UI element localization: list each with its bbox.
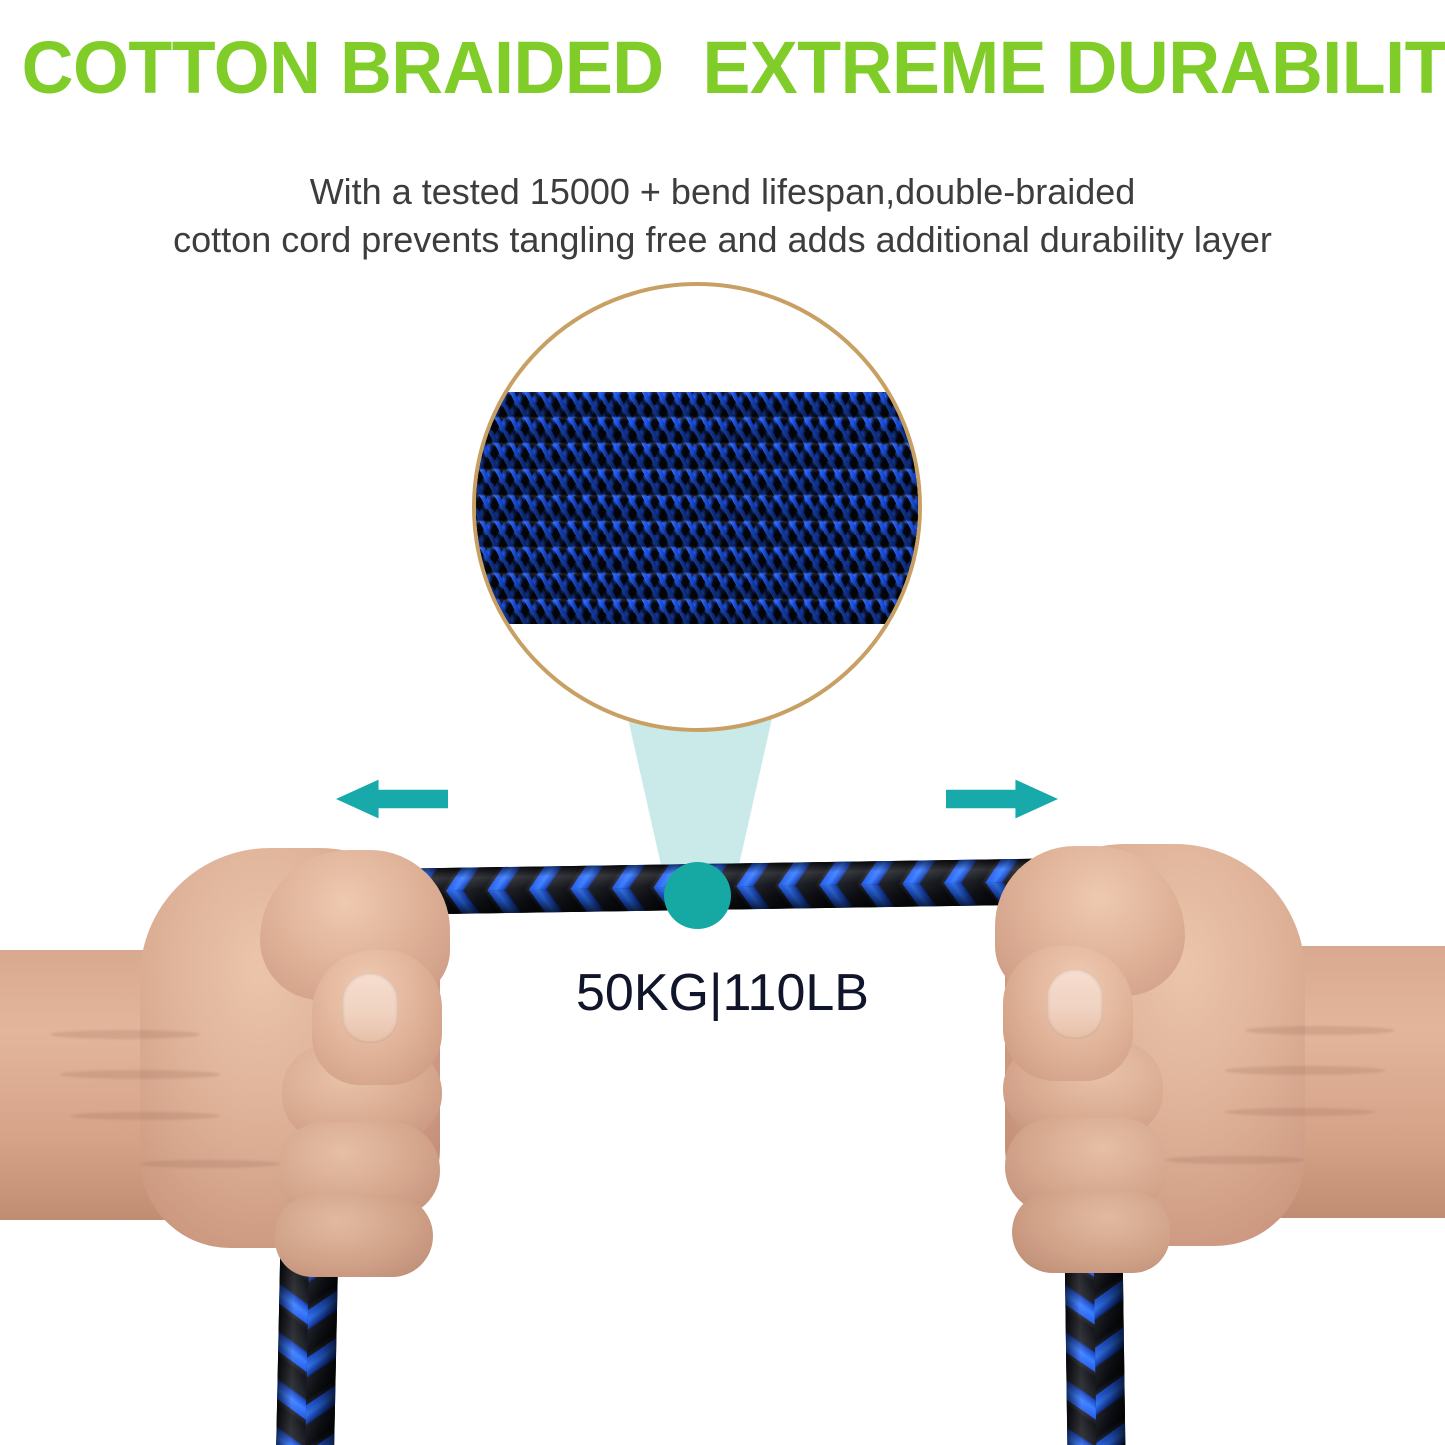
thumbnail — [342, 973, 398, 1043]
skin-crease — [140, 1160, 280, 1168]
subtitle-block: With a tested 15000 + bend lifespan,doub… — [0, 168, 1445, 264]
subtitle-line-2: cotton cord prevents tangling free and a… — [0, 216, 1445, 264]
skin-crease — [1245, 1026, 1395, 1035]
braid-macro-texture — [472, 392, 922, 624]
skin-crease — [60, 1070, 220, 1079]
skin-crease — [1225, 1066, 1385, 1075]
focus-point-dot-icon — [664, 862, 731, 929]
left-fist-gripping-cable — [0, 830, 490, 1300]
skin-crease — [1165, 1156, 1305, 1164]
skin-crease — [50, 1030, 200, 1039]
thumbnail — [1047, 969, 1103, 1039]
finger-ring — [1012, 1191, 1170, 1273]
skin-crease — [1225, 1108, 1375, 1116]
arrow-left-icon — [336, 776, 448, 822]
subtitle-line-1: With a tested 15000 + bend lifespan,doub… — [0, 168, 1445, 216]
page-title: COTTON BRAIDED EXTREME DURABILITY — [22, 30, 1424, 106]
magnifier-lens-icon — [472, 282, 922, 732]
finger-ring — [275, 1195, 433, 1277]
braid-macro-photo — [472, 392, 922, 624]
arrow-right-icon — [946, 776, 1058, 822]
product-infographic: COTTON BRAIDED EXTREME DURABILITY With a… — [0, 0, 1445, 1445]
skin-crease — [70, 1112, 220, 1120]
right-fist-gripping-cable — [955, 828, 1445, 1300]
